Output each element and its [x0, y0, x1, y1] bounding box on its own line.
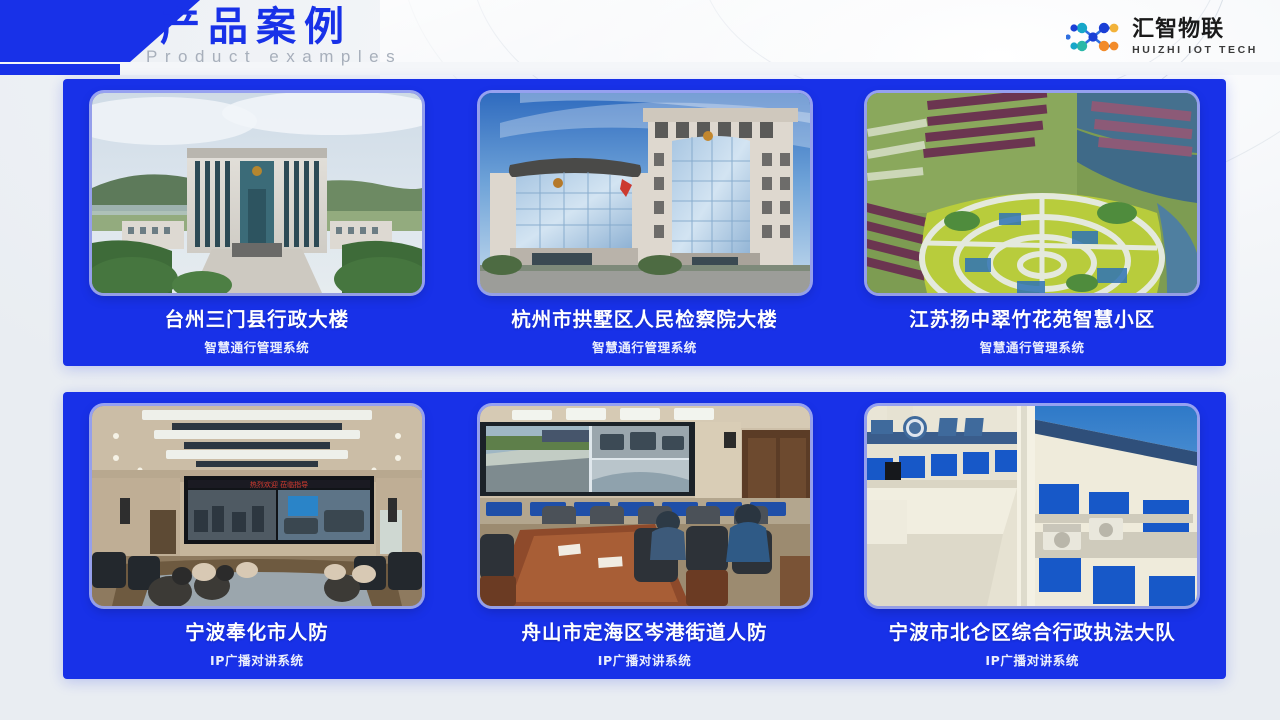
jiangsu-yangzhong-cuizhu-community-thumbnail[interactable] [867, 93, 1197, 293]
case-title: 宁波市北仑区综合行政执法大队 [889, 621, 1176, 645]
case-card[interactable]: 台州三门县行政大楼 智慧通行管理系统 [63, 93, 451, 366]
case-title: 江苏扬中翠竹花苑智慧小区 [909, 308, 1155, 332]
case-card[interactable]: 杭州市拱墅区人民检察院大楼 智慧通行管理系统 [451, 93, 839, 366]
card-row: 热烈欢迎 莅临指导 [63, 392, 1226, 679]
molecule-network-icon [1066, 17, 1124, 57]
case-card[interactable]: 宁波市北仑区综合行政执法大队 IP广播对讲系统 [838, 406, 1226, 679]
card-row: 台州三门县行政大楼 智慧通行管理系统 [63, 79, 1226, 366]
page-subtitle: Product examples [146, 47, 402, 67]
brand-logo: 汇智物联 HUIZHI IOT TECH [1066, 14, 1258, 60]
case-system: 智慧通行管理系统 [204, 340, 309, 356]
case-system: IP广播对讲系统 [985, 653, 1079, 669]
case-system: 智慧通行管理系统 [592, 340, 697, 356]
case-panel-top: 台州三门县行政大楼 智慧通行管理系统 [63, 79, 1226, 366]
ningbo-fenghua-civil-defense-meeting-room-thumbnail[interactable]: 热烈欢迎 莅临指导 [92, 406, 422, 606]
case-card[interactable]: 舟山市定海区岑港街道人防 IP广播对讲系统 [451, 406, 839, 679]
zhoushan-dinghai-cengang-control-room-thumbnail[interactable] [480, 406, 810, 606]
hangzhou-gongshu-procuratorate-building-thumbnail[interactable] [480, 93, 810, 293]
taizhou-sanmen-admin-building-thumbnail[interactable] [92, 93, 422, 293]
page-title: 产品案例 [160, 4, 352, 50]
brand-name-en: HUIZHI IOT TECH [1132, 43, 1258, 57]
case-system: IP广播对讲系统 [598, 653, 692, 669]
case-title: 舟山市定海区岑港街道人防 [522, 621, 768, 645]
slide-header: 产品案例 Product examples [0, 0, 1280, 75]
ningbo-beilun-law-enforcement-building-thumbnail[interactable] [867, 406, 1197, 606]
svg-text:热烈欢迎 莅临指导: 热烈欢迎 莅临指导 [250, 480, 308, 489]
case-card[interactable]: 热烈欢迎 莅临指导 [63, 406, 451, 679]
slide-canvas: 产品案例 Product examples [0, 0, 1280, 720]
case-title: 台州三门县行政大楼 [165, 308, 350, 332]
case-system: IP广播对讲系统 [210, 653, 304, 669]
case-panel-bottom: 热烈欢迎 莅临指导 [63, 392, 1226, 679]
brand-text: 汇智物联 HUIZHI IOT TECH [1132, 18, 1258, 57]
case-title: 杭州市拱墅区人民检察院大楼 [511, 308, 778, 332]
brand-name-zh: 汇智物联 [1132, 18, 1258, 42]
case-title: 宁波奉化市人防 [185, 621, 329, 645]
case-card[interactable]: 江苏扬中翠竹花苑智慧小区 智慧通行管理系统 [838, 93, 1226, 366]
case-system: 智慧通行管理系统 [980, 340, 1085, 356]
header-divider-accent [0, 64, 120, 75]
